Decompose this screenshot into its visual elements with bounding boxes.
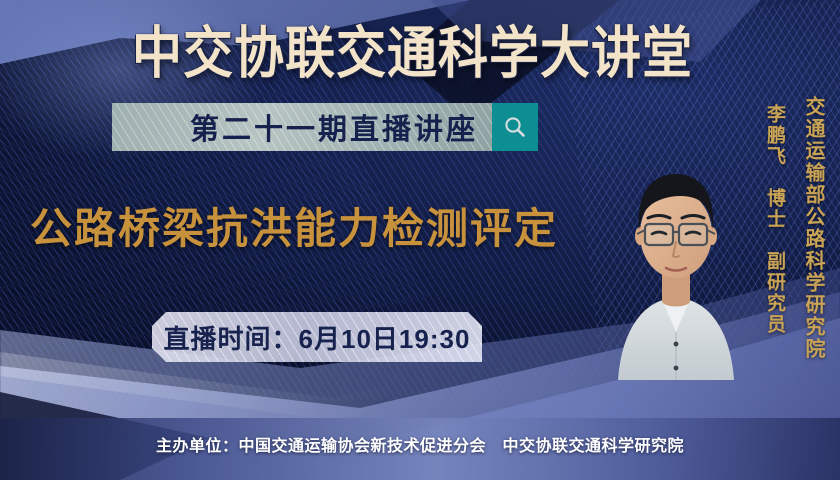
avatar: [612, 118, 740, 380]
speaker-name: 李鹏飞 博士 副研究员: [761, 104, 788, 335]
footer-organizers: 主办单位：中国交通运输协会新技术促进分会 中交协联交通科学研究院: [0, 432, 840, 456]
live-time-plate: 直播时间：6月10日19:30: [152, 312, 482, 362]
subtitle-label: 第二十一期直播讲座: [190, 106, 478, 148]
lecture-headline: 公路桥梁抗洪能力检测评定: [30, 204, 630, 254]
page-title: 中交协联交通科学大讲堂: [132, 22, 712, 85]
search-icon-box[interactable]: [492, 103, 538, 151]
subtitle-bar: 第二十一期直播讲座: [112, 103, 492, 151]
event-poster: 中交协联交通科学大讲堂 第二十一期直播讲座 公路桥梁抗洪能力检测评定 直播时间：…: [0, 0, 840, 480]
speaker-organization: 交通运输部公路科学研究院: [799, 96, 828, 360]
live-time-label: 直播时间：6月10日19:30: [164, 319, 471, 356]
search-icon: [502, 114, 528, 140]
speaker-portrait-illustration: [612, 118, 740, 380]
